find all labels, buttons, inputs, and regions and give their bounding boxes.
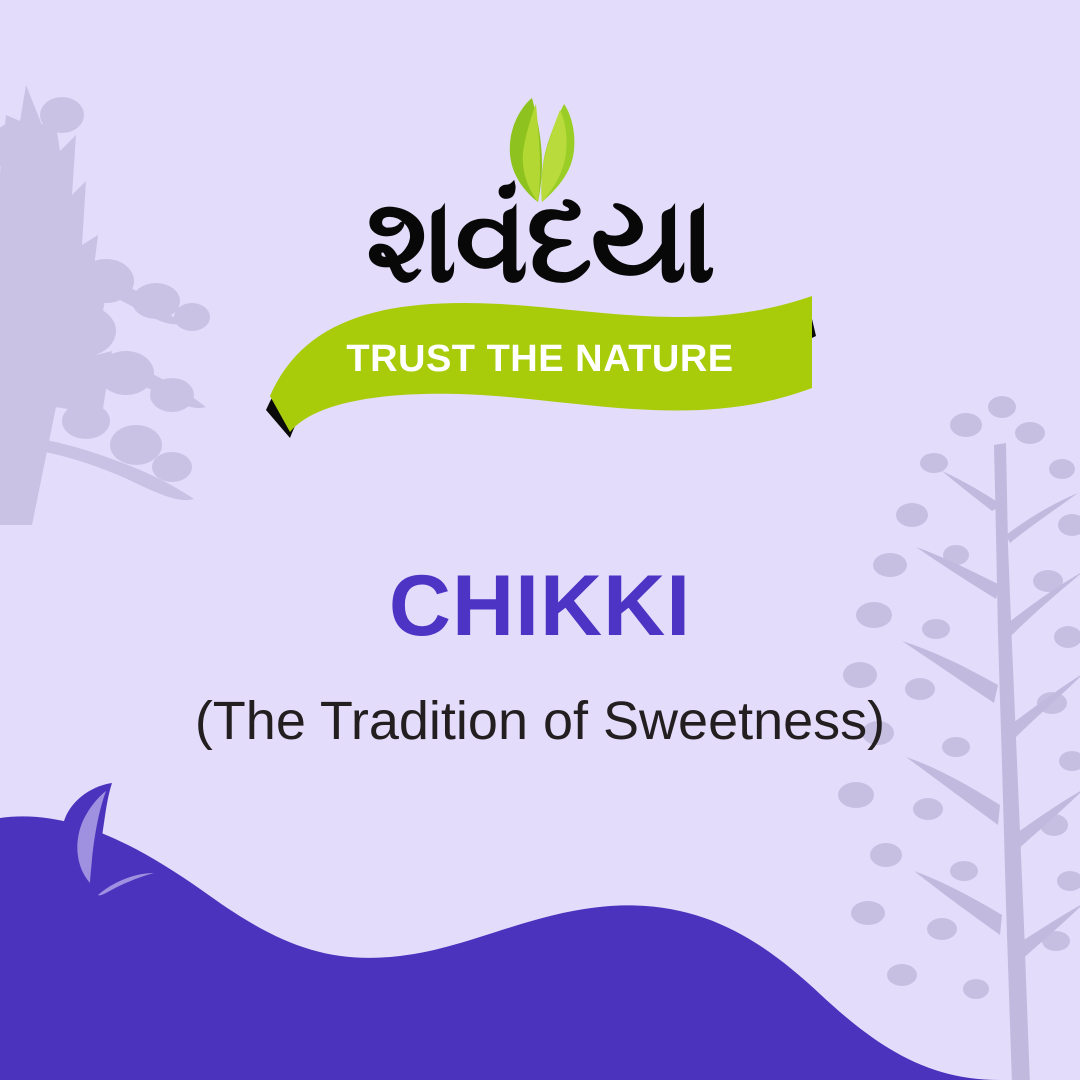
- page-title: CHIKKI: [0, 563, 1080, 649]
- poster-canvas: શવંદયા TRUST THE NATURE CHIKKI (The Trad…: [0, 0, 1080, 1080]
- page-subtitle: (The Tradition of Sweetness): [0, 690, 1080, 752]
- brand-logo: શવંદયા TRUST THE NATURE: [0, 96, 1080, 466]
- tagline-ribbon: TRUST THE NATURE: [260, 292, 820, 442]
- tagline-text: TRUST THE NATURE: [260, 338, 820, 381]
- leaf-sprout-icon: [48, 783, 173, 911]
- brand-name-gujarati: શવંદયા: [0, 182, 1080, 300]
